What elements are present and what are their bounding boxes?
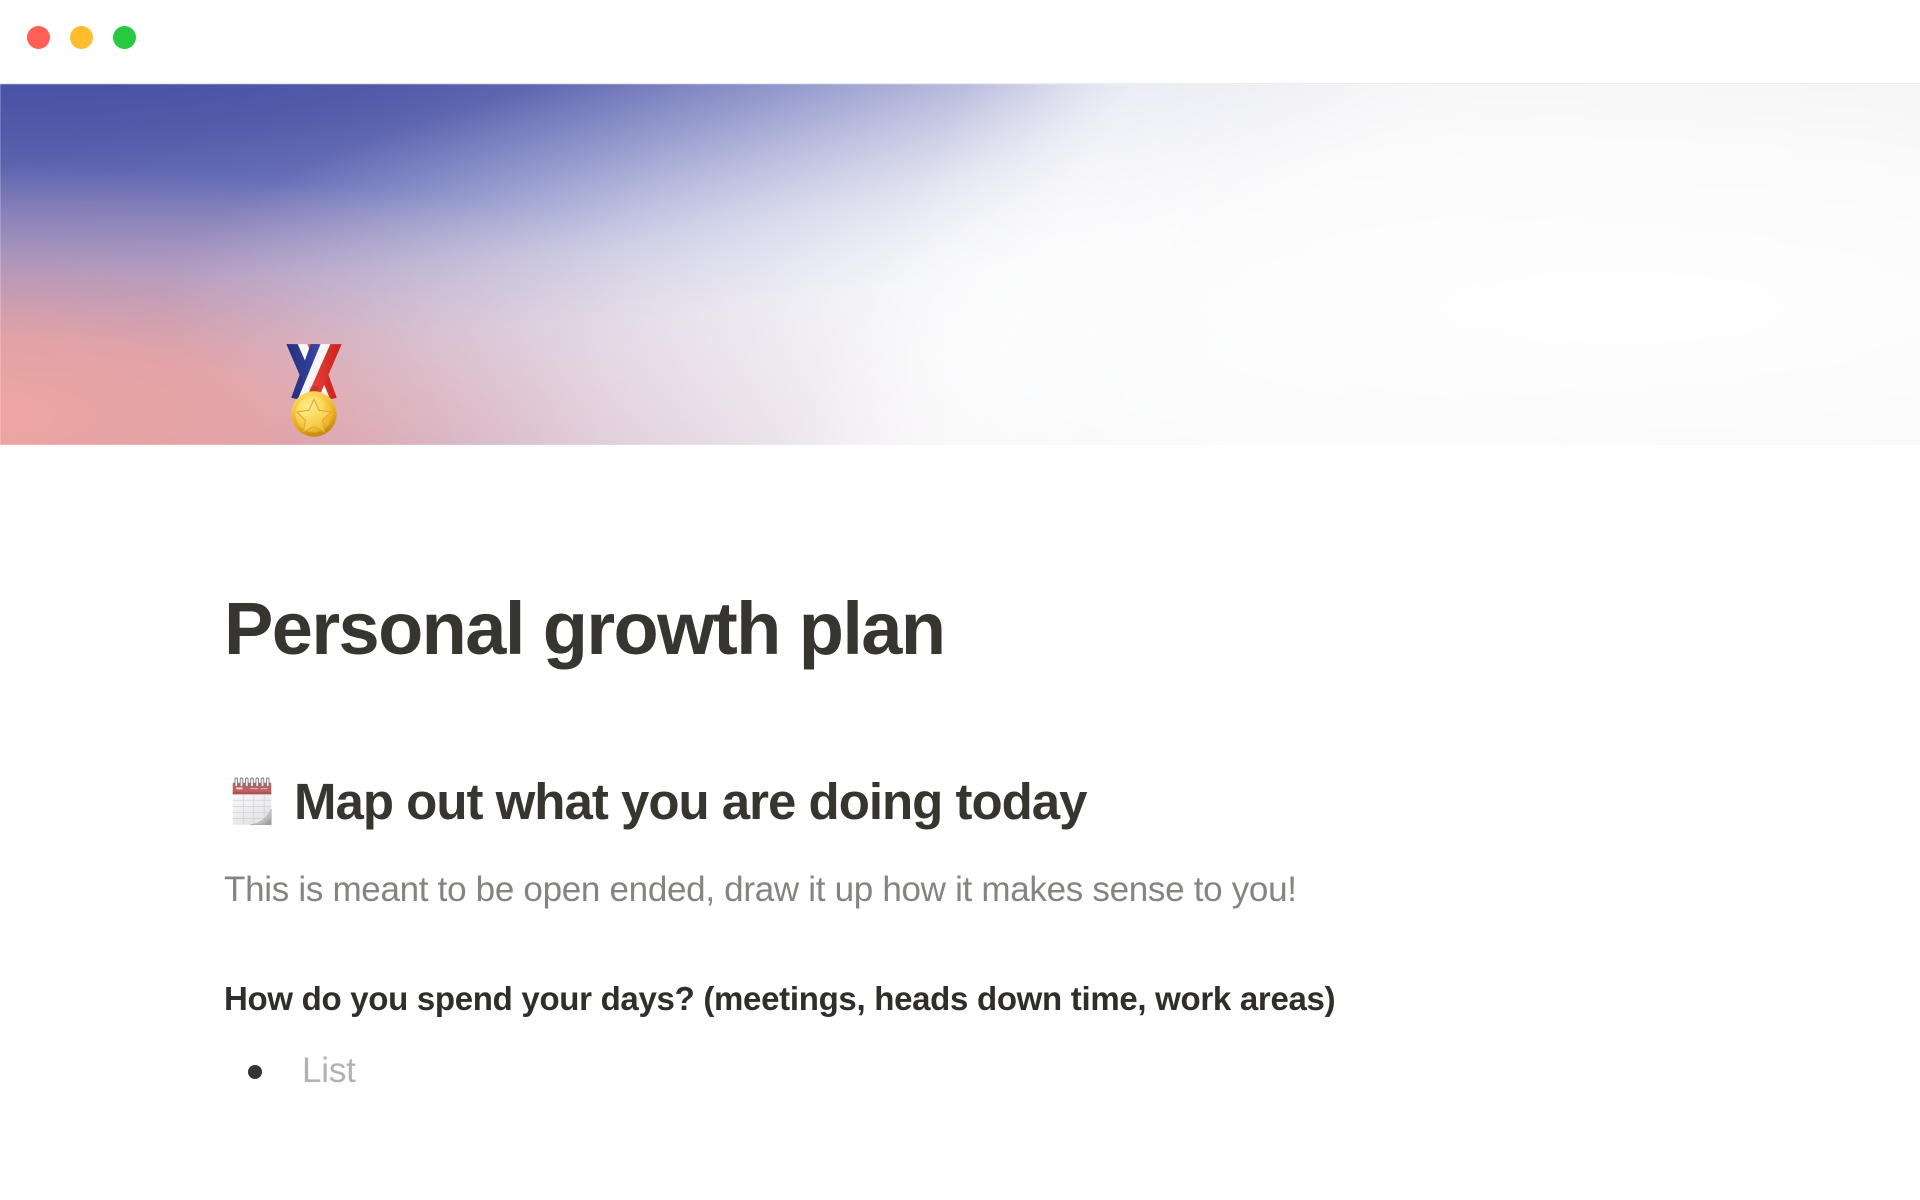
- close-window-button[interactable]: [27, 26, 50, 49]
- page-title[interactable]: Personal growth plan: [224, 590, 1824, 668]
- section-heading[interactable]: Map out what you are doing today: [224, 774, 1824, 830]
- section-heading-text: Map out what you are doing today: [294, 774, 1087, 830]
- list-item[interactable]: List: [224, 1048, 1824, 1094]
- minimize-window-button[interactable]: [70, 26, 93, 49]
- spiral-notepad-icon: [224, 774, 280, 830]
- zoom-window-button[interactable]: [113, 26, 136, 49]
- bulleted-list: List: [224, 1048, 1824, 1094]
- window-titlebar: [0, 0, 1920, 84]
- traffic-light-group: [27, 26, 136, 49]
- app-window: Personal growth plan: [0, 0, 1920, 1200]
- question-text[interactable]: How do you spend your days? (meetings, h…: [224, 977, 1824, 1022]
- page-content: Personal growth plan: [0, 445, 1920, 1093]
- list-item-placeholder[interactable]: List: [302, 1048, 356, 1094]
- section-subtitle[interactable]: This is meant to be open ended, draw it …: [224, 866, 1824, 913]
- sports-medal-icon[interactable]: [262, 336, 366, 440]
- bullet-dot-icon: [248, 1065, 262, 1079]
